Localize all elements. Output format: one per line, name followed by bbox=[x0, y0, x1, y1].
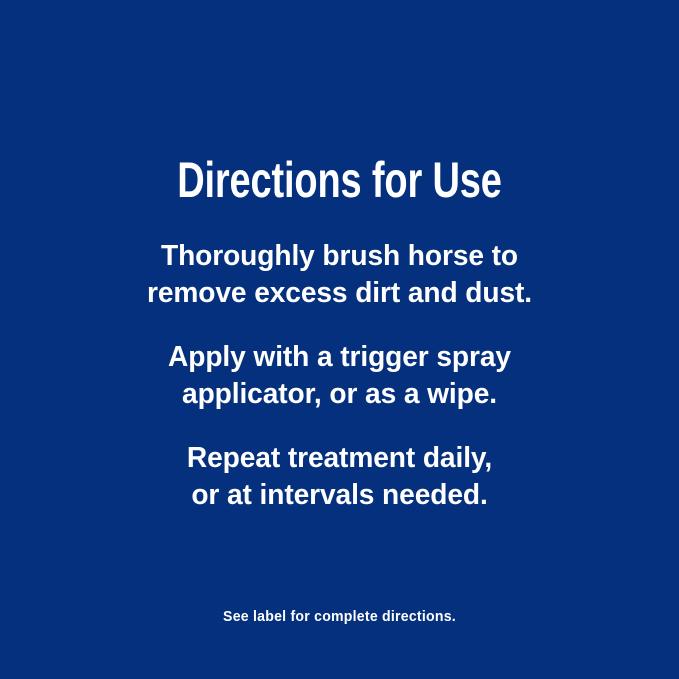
instruction-step-1: Thoroughly brush horse to remove excess … bbox=[10, 238, 669, 312]
instructions-list: Thoroughly brush horse to remove excess … bbox=[0, 238, 679, 514]
instruction-line: applicator, or as a wipe. bbox=[10, 376, 669, 413]
instruction-step-3: Repeat treatment daily, or at intervals … bbox=[10, 440, 669, 514]
directions-for-use-panel: Directions for Use Thoroughly brush hors… bbox=[0, 0, 679, 679]
instruction-line: Repeat treatment daily, bbox=[10, 440, 669, 477]
instruction-line: Thoroughly brush horse to bbox=[10, 238, 669, 275]
instruction-line: or at intervals needed. bbox=[10, 477, 669, 514]
page-title: Directions for Use bbox=[81, 152, 597, 208]
instruction-step-2: Apply with a trigger spray applicator, o… bbox=[10, 339, 669, 413]
instruction-line: remove excess dirt and dust. bbox=[10, 275, 669, 312]
instruction-line: Apply with a trigger spray bbox=[10, 339, 669, 376]
footnote-text: See label for complete directions. bbox=[20, 607, 658, 627]
